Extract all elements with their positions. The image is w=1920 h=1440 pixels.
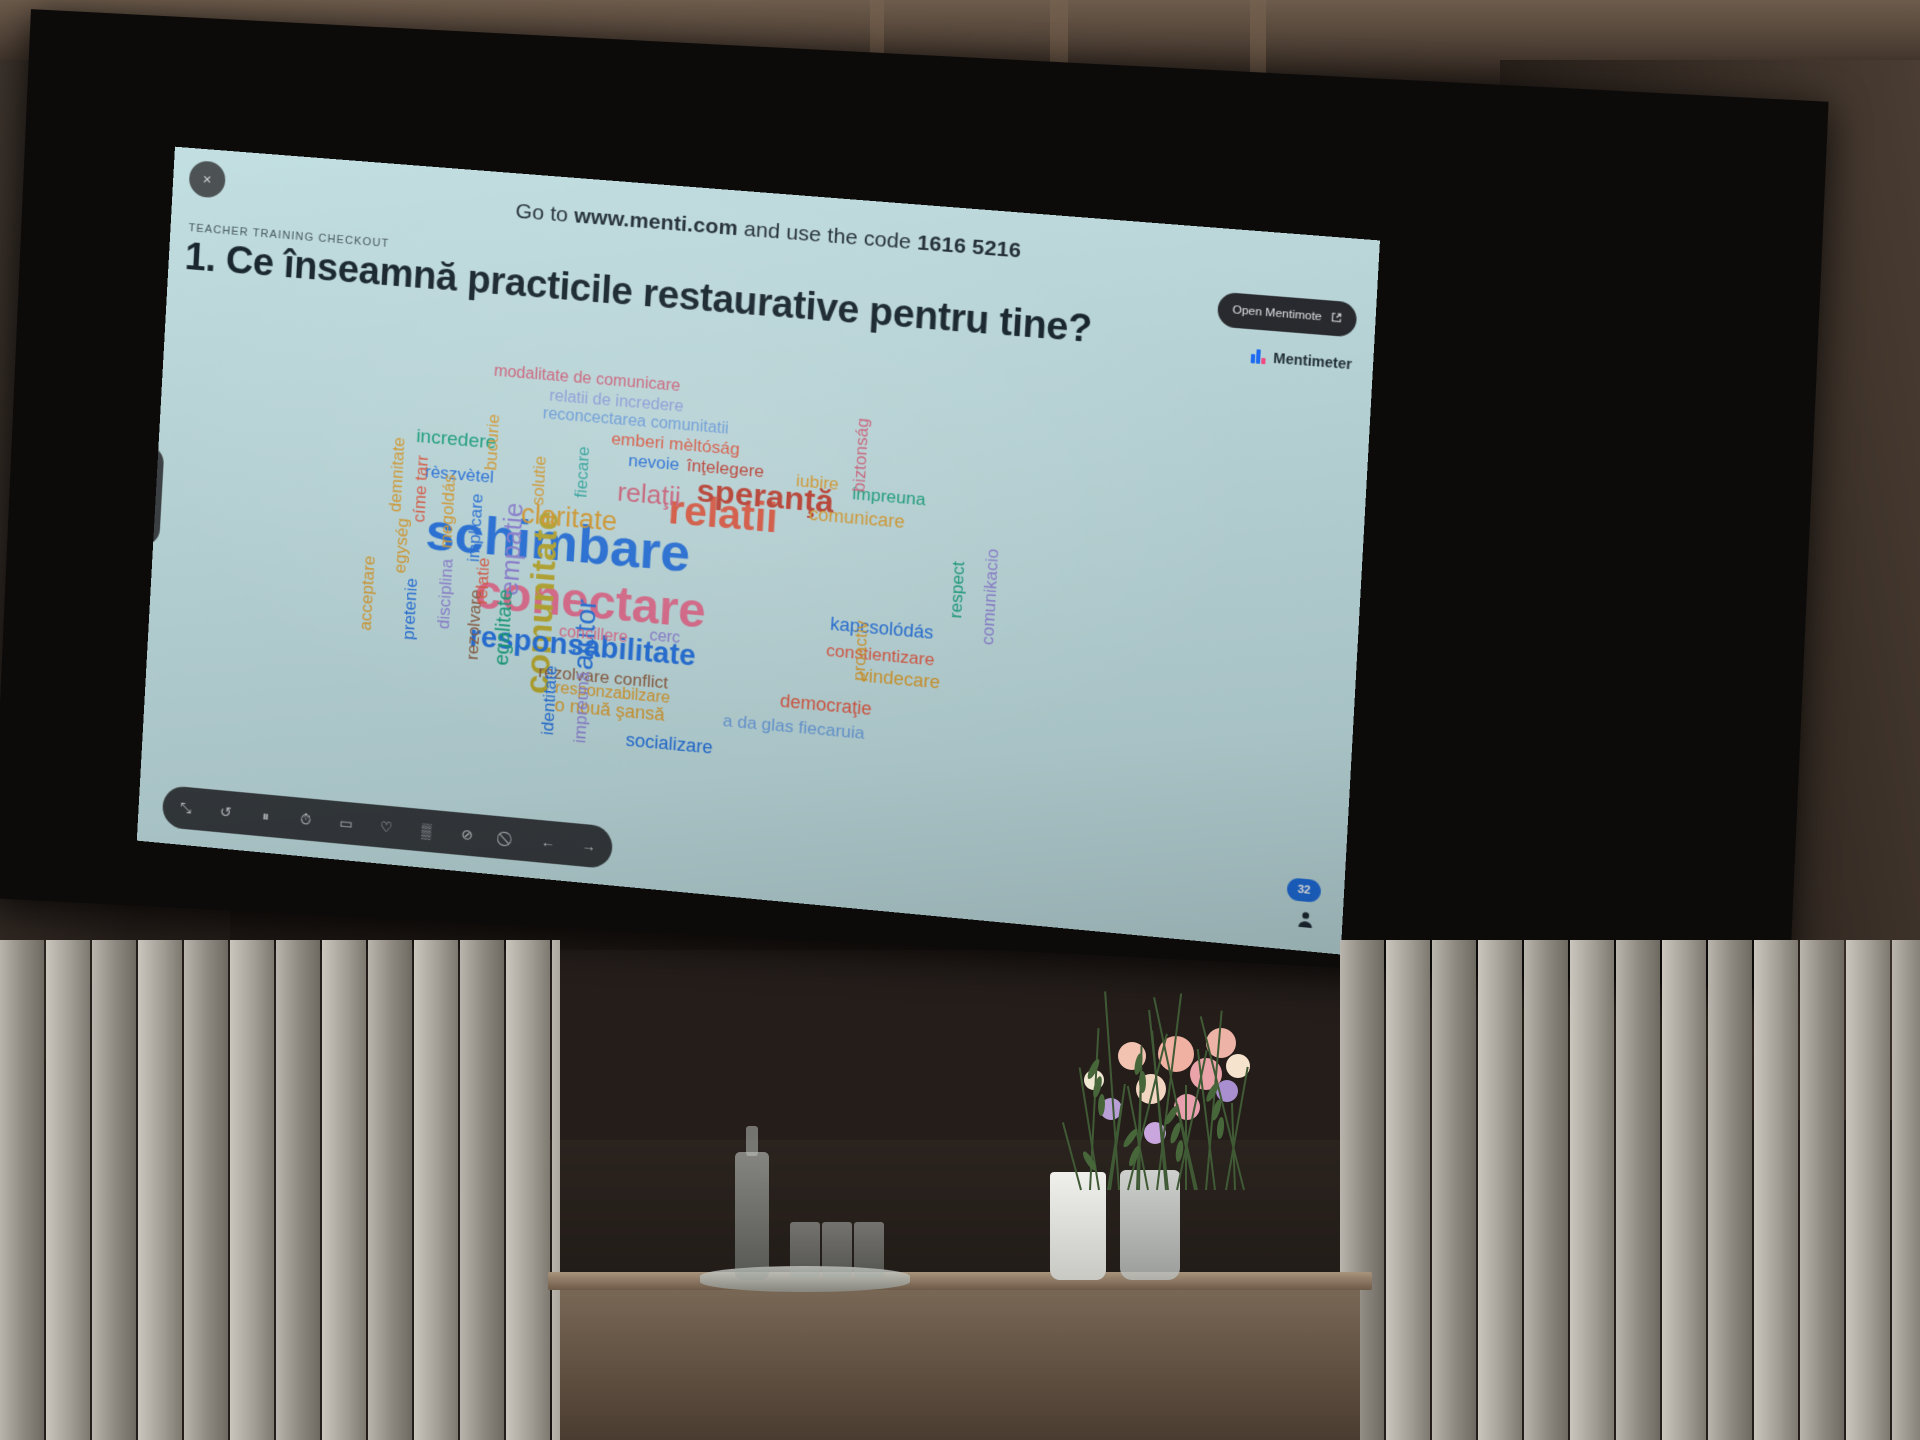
blind-slat [552,940,560,1440]
mentimeter-slide: × Go to www.menti.com and use the code 1… [137,147,1380,955]
word-cloud-item: democraţie [780,692,873,718]
join-code: 1616 5216 [917,231,1022,263]
mentimeter-mark-icon [1251,349,1266,365]
blind-slat [414,940,458,1440]
open-mentimote-button[interactable]: Open Mentimote [1217,292,1358,338]
flower-leaf [1217,1117,1225,1139]
blind-slat [1570,940,1614,1440]
previous-slide-icon[interactable]: ← [538,832,557,852]
external-link-icon [1331,311,1342,325]
word-cloud-item: identitate [538,665,559,736]
ceiling-beam [1250,0,1266,80]
blind-slat [1386,940,1430,1440]
blind-slat [1662,940,1706,1440]
comment-icon[interactable]: ▭ [336,813,355,833]
history-icon[interactable]: ↺ [216,802,235,822]
reset-icon[interactable]: ↺ [137,487,153,504]
flower-bouquet [1040,980,1260,1190]
projection-screen-surface: × Go to www.menti.com and use the code 1… [137,147,1380,955]
mentimeter-logo: Mentimeter [1251,348,1353,373]
mentimeter-wordmark: Mentimeter [1273,350,1352,373]
hide-results-icon[interactable]: ⊘ [457,825,476,845]
word-cloud-item: impreună [570,671,591,744]
word-cloud-item: relaţii [617,478,682,510]
word-cloud-item: fiecare [572,446,592,499]
blind-slat [1616,940,1660,1440]
join-prefix: Go to [515,200,575,228]
blind-slat [184,940,228,1440]
drinking-glass [790,1222,820,1278]
word-cloud-item: egység [391,517,411,574]
blind-slat [460,940,504,1440]
drinking-glass [822,1222,852,1278]
word-cloud-item: vindecare [859,666,941,691]
join-middle: and use the code [737,217,918,254]
blind-slat [276,940,320,1440]
word-cloud-item: biztonság [849,417,871,492]
word-cloud-item: constientizare [826,641,935,668]
block-icon[interactable]: ⃠ [498,828,517,848]
window-blinds-right [1340,940,1920,1440]
word-cloud-item: solutie [528,455,548,506]
blind-slat [322,940,366,1440]
word-cloud-item: bucurie [481,413,501,471]
ceiling-beam [870,0,884,60]
word-cloud-item: proactiv [849,620,870,682]
word-cloud-item: disciplina [434,558,455,630]
flower-stem [1062,1122,1082,1190]
word-cloud-item: megoldás [437,473,458,549]
word-cloud-item: respect [946,561,967,619]
blind-slat [1524,940,1568,1440]
word-cloud-item: cerc [649,628,681,647]
timer-icon[interactable]: ⏱ [296,809,315,829]
word-cloud-item: demnitate [386,436,407,512]
blind-slat [1432,940,1476,1440]
blind-slat [1846,940,1890,1440]
participant-count-badge: 32 [1287,877,1322,903]
word-cloud-item: relatie [472,557,492,605]
word-cloud-item: iubire [796,471,840,492]
open-mentimote-label: Open Mentimote [1232,304,1322,323]
blind-slat [230,940,274,1440]
blind-slat [1800,940,1844,1440]
blind-slat [1892,940,1920,1440]
blind-slat [92,940,136,1440]
blind-slat [368,940,412,1440]
undo-icon[interactable]: ⟲ [137,519,152,536]
blind-slat [1754,940,1798,1440]
credenza-top [548,1272,1372,1290]
word-cloud-item: comunikacio [978,548,1001,646]
collapse-icon[interactable]: ⤡ [176,798,195,818]
word-cloud-item: egalitate [492,588,516,666]
word-cloud-item: rèszvètel [425,462,495,485]
word-cloud-item: implicare [464,493,485,563]
reactions-icon[interactable]: ♡ [377,817,396,837]
word-cloud-item: comunicare [808,505,905,531]
blind-slat [0,940,44,1440]
next-slide-icon[interactable]: → [579,836,598,856]
word-cloud-item: címe tarr [410,454,431,523]
refresh-icon[interactable]: ↻ [138,454,155,471]
projection-screen-frame: × Go to www.menti.com and use the code 1… [0,9,1829,991]
pause-icon[interactable]: ⏸ [256,806,275,826]
water-bottle [735,1152,769,1280]
credenza [560,1280,1360,1440]
word-cloud-item: kapcsolódás [830,615,934,642]
blind-slat [506,940,550,1440]
blind-slat [138,940,182,1440]
word-cloud-item: socializare [625,731,713,757]
room-photo-background: × Go to www.menti.com and use the code 1… [0,0,1920,1440]
word-cloud-item: pretenie [399,577,420,640]
blind-slat [1478,940,1522,1440]
word-cloud-item: acceptare [356,555,377,631]
participant-icon [1296,909,1316,929]
blind-slat [1708,940,1752,1440]
blind-slat [46,940,90,1440]
word-cloud-item: nevoie [628,451,680,472]
menti-url: www.menti.com [574,204,739,240]
qr-code-icon[interactable]: ▒ [417,821,436,841]
word-cloud-item: empatie [495,501,526,596]
window-blinds-left [0,940,560,1440]
flower-stem [1185,1085,1187,1190]
drinking-glass [854,1222,884,1278]
